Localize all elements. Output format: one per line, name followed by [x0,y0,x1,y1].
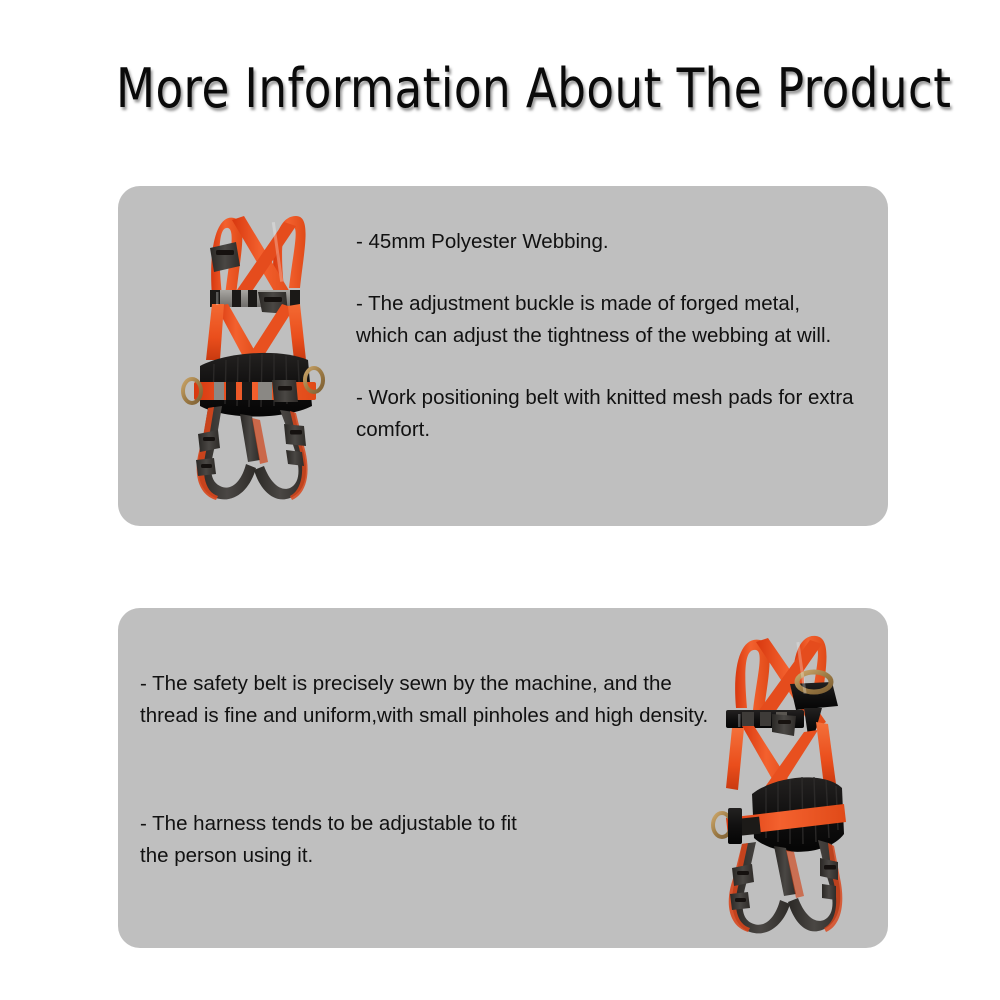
card-two-text: - The safety belt is precisely sewn by t… [140,668,720,948]
card-two-paragraph-1: - The safety belt is precisely sewn by t… [140,668,720,732]
page-title: More Information About The Product [116,57,879,121]
card-one-text: - 45mm Polyester Webbing. - The adjustme… [356,226,856,446]
card-two-paragraph-2: - The harness tends to be adjustable to … [140,808,720,872]
card-one-paragraph-3: - Work positioning belt with knitted mes… [356,382,856,446]
card-one-paragraph-2: - The adjustment buckle is made of forge… [356,288,856,352]
product-info-page: More Information About The Product [0,0,1000,1000]
info-card-one: - 45mm Polyester Webbing. - The adjustme… [118,186,888,526]
harness-image-front [156,192,346,512]
info-card-two: - The safety belt is precisely sewn by t… [118,608,888,948]
card-one-paragraph-1: - 45mm Polyester Webbing. [356,226,856,258]
harness-image-angled [686,622,876,942]
